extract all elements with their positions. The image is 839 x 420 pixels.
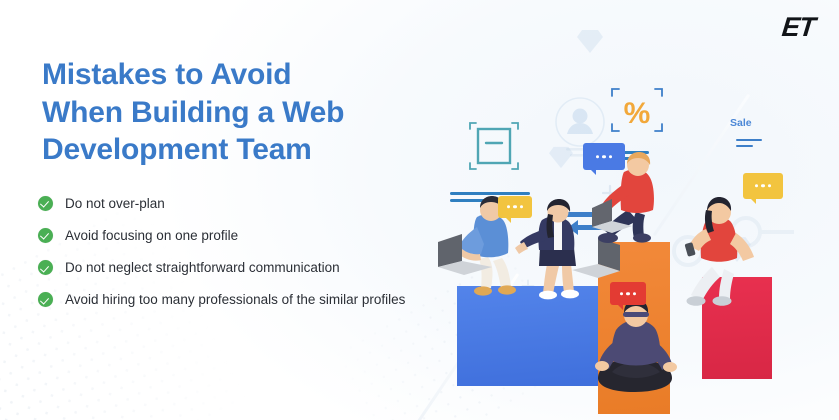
list-item-label: Do not over-plan [65,194,165,213]
yellow-chat-bubble-left [498,196,532,218]
decor-line [736,139,762,141]
list-item-label: Avoid hiring too many professionals of t… [65,290,405,309]
team-illustration: % Sale [420,0,839,420]
list-item: Do not over-plan [38,194,438,213]
person-red-top-phone [662,195,782,325]
page-title: Mistakes to Avoid When Building a Web De… [42,56,462,169]
list-item-label: Do not neglect straightforward communica… [65,258,340,277]
bubble-dots [583,155,625,158]
page-title-line-2: When Building a Web [42,94,462,132]
percent-frame-icon: % [602,78,672,144]
red-chat-bubble [610,282,646,305]
decor-line [736,145,753,147]
list-item: Avoid hiring too many professionals of t… [38,290,438,309]
bubble-dots [498,205,532,208]
sale-label: Sale [730,117,752,129]
bubble-dots [743,184,783,187]
bubble-dots [610,292,646,295]
yellow-chat-bubble-right [743,173,783,199]
check-circle-icon [38,260,53,275]
page-title-line-3: Development Team [42,131,462,169]
diamond-icon [547,145,575,169]
svg-text:%: % [624,97,651,130]
benefits-list: Do not over-plan Avoid focusing on one p… [38,194,438,323]
diamond-icon [575,28,605,54]
check-circle-icon [38,292,53,307]
blue-chat-bubble [583,143,625,170]
check-circle-icon [38,196,53,211]
check-circle-icon [38,228,53,243]
page-title-line-1: Mistakes to Avoid [42,56,462,94]
promo-banner: ET Mistakes to Avoid When Building a Web… [0,0,839,420]
list-item: Do not neglect straightforward communica… [38,258,438,277]
list-item-label: Avoid focusing on one profile [65,226,238,245]
image-frame-icon [454,106,534,186]
list-item: Avoid focusing on one profile [38,226,438,245]
